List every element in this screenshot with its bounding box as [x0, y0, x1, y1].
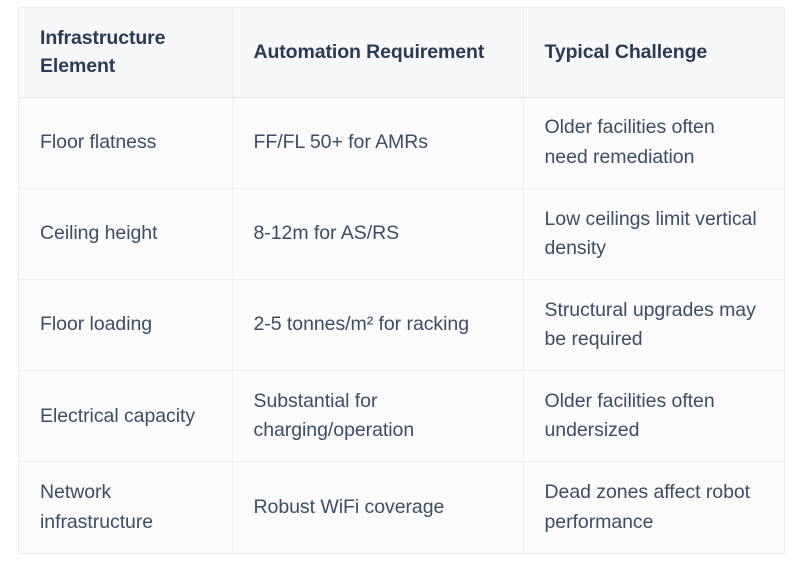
table-row: Network infrastructure Robust WiFi cover… [19, 462, 784, 553]
cell-typical-challenge: Dead zones affect robot performance [523, 462, 784, 553]
cell-typical-challenge: Older facilities often need remediation [523, 97, 784, 188]
comparison-table: Infrastructure Element Automation Requir… [19, 8, 784, 553]
column-header-typical-challenge: Typical Challenge [523, 8, 784, 97]
page-root: Infrastructure Element Automation Requir… [0, 0, 800, 565]
column-header-label: Automation Requirement [254, 38, 501, 66]
table-row: Floor loading 2-5 tonnes/m² for racking … [19, 279, 784, 370]
column-header-label: Typical Challenge [545, 38, 763, 66]
cell-automation-requirement: FF/FL 50+ for AMRs [232, 97, 523, 188]
cell-text: Older facilities often undersized [545, 387, 763, 446]
cell-text: Substantial for charging/operation [254, 387, 501, 446]
cell-text: 8-12m for AS/RS [254, 219, 501, 248]
cell-automation-requirement: 2-5 tonnes/m² for racking [232, 279, 523, 370]
cell-automation-requirement: Robust WiFi coverage [232, 462, 523, 553]
cell-automation-requirement: Substantial for charging/operation [232, 371, 523, 462]
table-row: Ceiling height 8-12m for AS/RS Low ceili… [19, 188, 784, 279]
cell-text: Structural upgrades may be required [545, 296, 763, 355]
cell-infrastructure-element: Ceiling height [19, 188, 232, 279]
column-header-automation-requirement: Automation Requirement [232, 8, 523, 97]
cell-text: Network infrastructure [40, 478, 210, 537]
cell-infrastructure-element: Floor flatness [19, 97, 232, 188]
cell-text: Low ceilings limit vertical density [545, 205, 763, 264]
cell-typical-challenge: Low ceilings limit vertical density [523, 188, 784, 279]
column-header-label: Infrastructure Element [40, 24, 210, 81]
cell-infrastructure-element: Network infrastructure [19, 462, 232, 553]
cell-text: Electrical capacity [40, 402, 210, 431]
cell-text: Dead zones affect robot performance [545, 478, 763, 537]
cell-typical-challenge: Older facilities often undersized [523, 371, 784, 462]
cell-infrastructure-element: Electrical capacity [19, 371, 232, 462]
cell-typical-challenge: Structural upgrades may be required [523, 279, 784, 370]
cell-text: Robust WiFi coverage [254, 493, 501, 522]
table-body: Floor flatness FF/FL 50+ for AMRs Older … [19, 97, 784, 553]
cell-text: FF/FL 50+ for AMRs [254, 128, 501, 157]
table-header: Infrastructure Element Automation Requir… [19, 8, 784, 97]
cell-text: Older facilities often need remediation [545, 113, 763, 172]
cell-text: 2-5 tonnes/m² for racking [254, 310, 501, 339]
table-header-row: Infrastructure Element Automation Requir… [19, 8, 784, 97]
cell-automation-requirement: 8-12m for AS/RS [232, 188, 523, 279]
cell-infrastructure-element: Floor loading [19, 279, 232, 370]
column-header-infrastructure-element: Infrastructure Element [19, 8, 232, 97]
cell-text: Floor flatness [40, 128, 210, 157]
cell-text: Ceiling height [40, 219, 210, 248]
comparison-table-container: Infrastructure Element Automation Requir… [18, 7, 785, 554]
cell-text: Floor loading [40, 310, 210, 339]
table-row: Electrical capacity Substantial for char… [19, 371, 784, 462]
table-row: Floor flatness FF/FL 50+ for AMRs Older … [19, 97, 784, 188]
